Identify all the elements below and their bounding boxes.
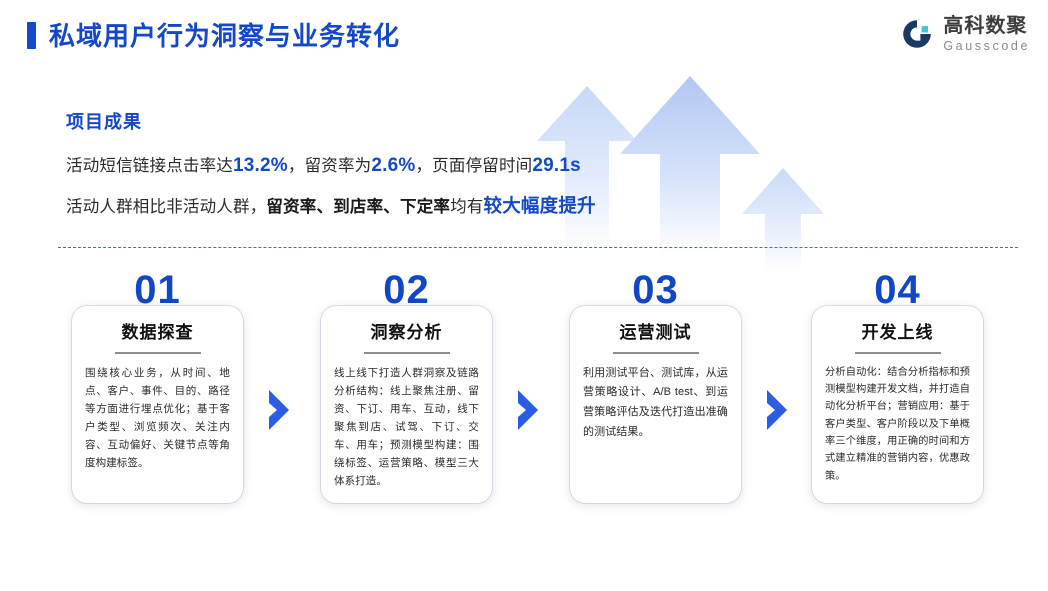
step-title-4: 开发上线 — [825, 324, 970, 343]
step-number-2: 02 — [321, 270, 492, 310]
step-title-3: 运营测试 — [583, 324, 728, 343]
step-body-2: 线上线下打造人群洞察及链路分析结构：线上聚焦注册、留资、下订、用车、互动，线下聚… — [334, 364, 479, 490]
results-heading: 项目成果 — [66, 108, 596, 134]
slide-canvas: 私域用户行为洞察与业务转化 高科数聚 Gausscode 项目成果 活动短信链接… — [0, 0, 1048, 591]
step-card-1[interactable]: 01 数据探查 围绕核心业务，从时间、地点、客户、事件、目的、路径等方面进行埋点… — [72, 306, 243, 503]
step-body-1: 围绕核心业务，从时间、地点、客户、事件、目的、路径等方面进行埋点优化；基于客户类… — [85, 364, 230, 472]
step-card-3[interactable]: 03 运营测试 利用测试平台、测试库，从运营策略设计、A/B test、到运营策… — [570, 306, 741, 503]
chevron-right-icon-3 — [764, 390, 790, 430]
step-number-4: 04 — [812, 270, 983, 310]
results-line2-seg2: 均有 — [450, 198, 483, 216]
results-line1-seg3: ，页面停留时间 — [415, 157, 532, 175]
gausscode-logo-icon — [900, 17, 934, 51]
chevron-right-icon-2 — [515, 390, 541, 430]
slide-header: 私域用户行为洞察与业务转化 高科数聚 Gausscode — [0, 0, 1048, 78]
up-arrow-icon-center — [620, 76, 760, 256]
logo-name-cn: 高科数聚 — [943, 16, 1030, 36]
metric-click-rate: 13.2% — [233, 155, 288, 176]
title-accent-bar — [27, 22, 36, 49]
step-title-1: 数据探查 — [85, 324, 230, 343]
step-rule-3 — [613, 352, 699, 354]
logo-name-en: Gausscode — [943, 40, 1030, 53]
section-divider — [58, 247, 1018, 248]
step-card-4[interactable]: 04 开发上线 分析自动化：结合分析指标和预测模型构建开发文档，并打造自动化分析… — [812, 306, 983, 503]
step-rule-4 — [855, 352, 941, 354]
results-line-1: 活动短信链接点击率达13.2%，留资率为2.6%，页面停留时间29.1s — [66, 156, 596, 175]
step-number-1: 01 — [72, 270, 243, 310]
step-body-3: 利用测试平台、测试库，从运营策略设计、A/B test、到运营策略评估及迭代打造… — [583, 364, 728, 443]
title-text: 私域用户行为洞察与业务转化 — [49, 23, 400, 49]
results-line1-seg1: 活动短信链接点击率达 — [66, 157, 233, 175]
results-line2-bold: 留资率、到店率、下定率 — [266, 198, 450, 216]
step-number-3: 03 — [570, 270, 741, 310]
process-steps: 01 数据探查 围绕核心业务，从时间、地点、客户、事件、目的、路径等方面进行埋点… — [0, 272, 1048, 532]
chevron-right-icon-1 — [266, 390, 292, 430]
step-rule-1 — [115, 352, 201, 354]
results-line2-seg1: 活动人群相比非活动人群， — [66, 198, 266, 216]
brand-logo: 高科数聚 Gausscode — [900, 16, 1030, 53]
step-card-2[interactable]: 02 洞察分析 线上线下打造人群洞察及链路分析结构：线上聚焦注册、留资、下订、用… — [321, 306, 492, 503]
metric-dwell-time: 29.1s — [532, 155, 581, 176]
step-rule-2 — [364, 352, 450, 354]
up-arrow-icon-right — [742, 168, 824, 273]
results-line2-highlight: 较大幅度提升 — [484, 195, 596, 216]
step-body-4: 分析自动化：结合分析指标和预测模型构建开发文档，并打造自动化分析平台；营销应用：… — [825, 364, 970, 485]
metric-lead-rate: 2.6% — [371, 155, 415, 176]
results-section: 项目成果 活动短信链接点击率达13.2%，留资率为2.6%，页面停留时间29.1… — [66, 108, 596, 238]
results-line-2: 活动人群相比非活动人群，留资率、到店率、下定率均有较大幅度提升 — [66, 197, 596, 216]
page-title: 私域用户行为洞察与业务转化 — [27, 22, 400, 49]
results-line1-seg2: ，留资率为 — [288, 157, 372, 175]
step-title-2: 洞察分析 — [334, 324, 479, 343]
